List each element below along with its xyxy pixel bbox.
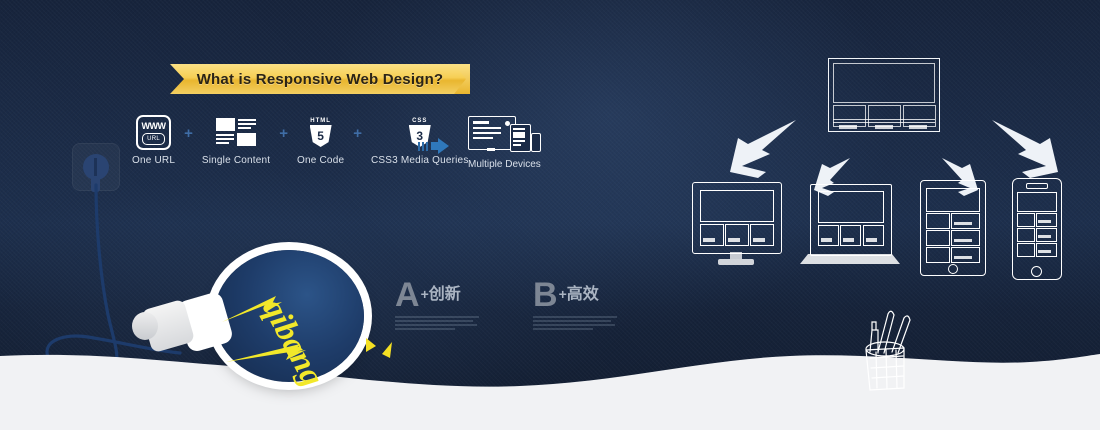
laptop-wireframe (802, 184, 902, 282)
bulb-tip (132, 312, 158, 340)
motion-arrow-icon (418, 138, 449, 154)
spark-marks (360, 336, 420, 386)
ribbon-banner: What is Responsive Web Design? (170, 64, 470, 94)
feature-label: One URL (132, 155, 175, 166)
multiple-devices-group: Multiple Devices (468, 116, 541, 170)
highlight-word: 创新 (429, 286, 461, 303)
highlight-word: 高效 (567, 286, 599, 303)
multiple-devices-label: Multiple Devices (468, 159, 541, 170)
plus-symbol-1: + (184, 125, 193, 142)
diverging-arrow (730, 120, 796, 178)
highlight-letter: B (533, 278, 558, 312)
desktop-monitor-wireframe (692, 182, 784, 282)
responsive-web-design-banner: What is Responsive Web Design? WWW URL O… (0, 0, 1100, 430)
plus-symbol-2: + (279, 125, 288, 142)
power-plug-icon (83, 154, 109, 180)
feature-single-content: Single Content (202, 116, 270, 166)
feature-label: Single Content (202, 155, 270, 166)
pen-holder-sketch (848, 308, 938, 398)
www-url-icon-bottom-text: URL (142, 133, 165, 145)
feature-label: CSS3 Media Queries (371, 155, 469, 166)
multiple-devices-icon (468, 116, 540, 152)
html5-badge-number: 5 (310, 129, 332, 143)
feature-label: One Code (297, 155, 344, 166)
feature-one-code: HTML 5 One Code (297, 116, 344, 166)
smartphone-wireframe (1012, 178, 1064, 282)
plus-symbol-3: + (353, 125, 362, 142)
www-url-icon: WWW URL (132, 116, 175, 148)
html5-badge-cap: HTML (308, 117, 334, 125)
highlight-plus: + (559, 286, 567, 302)
light-bulb: qibang (110, 244, 430, 414)
highlight-text: +高效 (559, 280, 599, 304)
www-url-icon-top-text: WWW (141, 120, 166, 132)
ribbon-title: What is Responsive Web Design? (170, 64, 470, 94)
content-blocks-icon (202, 116, 270, 148)
logo-text: qibang (255, 293, 331, 392)
css3-badge-cap: CSS (407, 117, 433, 125)
feature-one-url: WWW URL One URL (132, 116, 175, 166)
bulb-logo: qibang (222, 258, 362, 378)
html5-badge-icon: HTML 5 (297, 116, 344, 148)
tablet-wireframe (920, 180, 988, 280)
diverging-arrow (992, 120, 1058, 178)
